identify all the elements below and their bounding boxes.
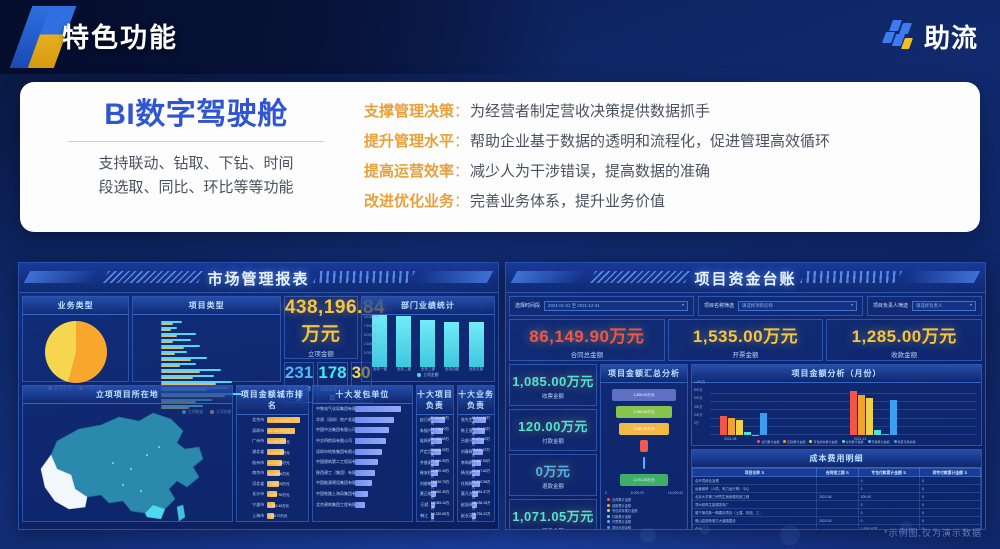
kpi-contract-total: 86,149.90万元 合同总金额 <box>509 319 665 361</box>
rank-value: 12,085.10万元 <box>431 500 450 510</box>
bar <box>890 400 897 435</box>
kpi-value: 1,535.00万元 <box>669 322 823 347</box>
table-cell: 0 <box>919 477 980 485</box>
rank-row: 中国能源建设集团有限公司广东院 <box>313 478 412 489</box>
rank-value: 52,014.80万元 <box>430 415 450 425</box>
rank-name: 中铁电气化局集团有限公司 <box>316 406 355 412</box>
table-cell: 0 <box>858 477 919 485</box>
chart-amount-summary[interactable]: 项目金额汇总分析 1,500.00万元1,285.00万元1,085.00万元1… <box>600 364 688 530</box>
rank-row: 上海市9,445.70万元 <box>237 510 308 521</box>
rank-name: 中国建筑第二工程局有限公司 <box>316 459 355 465</box>
rank-row: 广州市33,006.27万元 <box>237 436 308 447</box>
table-cell <box>817 477 859 485</box>
kpi-payment: 120.00万元 付款金额 <box>509 409 597 451</box>
rank-row: 杭州市24,310.55万元 <box>237 457 308 468</box>
kpi-value: 1,285.00万元 <box>827 322 981 347</box>
rank-row: 中国建筑第二工程局有限公司 <box>313 457 412 468</box>
bar <box>874 430 881 435</box>
table-row[interactable]: 佛山高铁新城方大道路建设2022-0300 <box>693 517 981 525</box>
card-subtitle-line2: 段选取、同比、环比等等功能 <box>46 176 346 200</box>
brand-logo: 助流 <box>880 18 978 55</box>
legend-item: 专包成本累计金额 <box>809 440 837 444</box>
panel-header: 市场管理报表 <box>19 263 498 293</box>
bar <box>866 398 873 435</box>
rank-row: 长沙市14,067.90万元 <box>237 489 308 500</box>
rank-name: 宁波市 <box>240 502 267 508</box>
rank-row: 崔安松22,890.40万元 <box>417 468 453 479</box>
rank-row: 南京市20,118.86万元 <box>237 468 308 479</box>
rank-value: 32,567.90万元 <box>472 458 491 468</box>
hbar-row <box>137 336 276 341</box>
rank-row: 赵旭泽18,036.15万元 <box>458 500 494 511</box>
dashboard-fund-ledger: 项目资金台账 选择时间段 2021-01-01 至 2021-12-31 项目名… <box>505 262 986 530</box>
rank-row: 赵长茂13,794.22万元 <box>458 510 494 521</box>
rank-row: 陈玉强45,284.70万元 <box>458 426 494 437</box>
table-row[interactable]: 普宁莲花新一期建设项目（土建、机电、工...00 <box>693 509 981 517</box>
rank-value: 45,284.70万元 <box>472 426 491 436</box>
hbar-row <box>137 324 276 329</box>
rank-row: 中铁电气化局集团有限公司 <box>313 404 412 415</box>
bar <box>420 320 435 367</box>
kpi-refund: 0万元 退款金额 <box>509 454 597 496</box>
grouped-bar-chart <box>692 383 981 441</box>
rank-value: 36,611.07万元 <box>472 447 491 457</box>
rank-value: 66,118.30万元 <box>268 428 290 433</box>
feature-row: 改进优化业务 ： 完善业务体系，提升业务价值 <box>364 190 964 211</box>
x-tick: 0 <box>605 491 607 495</box>
rank-name: 齐俊彩 <box>420 460 432 466</box>
rank-row: 中交四航局有限公司 <box>313 436 412 447</box>
rank-row: 刘春辉36,611.07万元 <box>458 447 494 458</box>
bar <box>760 413 767 435</box>
y-tick: 0.00亿元 <box>364 349 379 358</box>
chart-dept-performance[interactable]: 部门业绩统计 10.00亿元7.50亿元5.00亿元2.50亿元0.00亿元 业… <box>361 296 495 382</box>
x-tick: 16,000.00 <box>668 491 683 495</box>
chart-project-type[interactable]: 项目类型 立项数量 立项金额 <box>132 296 281 382</box>
panel-title: 市场管理报表 <box>19 268 498 289</box>
date-range-input[interactable]: 2021-01-01 至 2021-12-31 <box>544 301 688 311</box>
hbar-row <box>137 354 276 359</box>
chart-title: 项目类型 <box>133 297 280 315</box>
table-cell: 0 <box>919 517 980 525</box>
feature-row: 支撑管理决策 ： 为经营者制定营收决策提供数据抓手 <box>364 100 964 121</box>
table-cell: 0 <box>919 501 980 509</box>
rank-name: 韩江 <box>420 513 431 519</box>
kpi-value: 231 <box>285 363 313 383</box>
feature-colon: ： <box>454 190 469 211</box>
rank-name: 河北省 <box>240 481 267 487</box>
rank-value: 11,032.45万元 <box>267 503 289 508</box>
x-tick: 8,000.00 <box>631 491 644 495</box>
y-tick: 10.00亿元 <box>364 313 379 322</box>
feature-colon: ： <box>454 130 469 151</box>
rank-value: 19,330.70万元 <box>431 479 450 489</box>
table-cell: 0 <box>919 509 980 517</box>
rank-name: 任佩辉 <box>461 481 472 487</box>
kpi-label: 退款金额 <box>510 482 596 490</box>
rank-value: 44,718.20万元 <box>430 426 449 436</box>
table-cell: 200.00 <box>858 493 919 501</box>
rank-name: 中国中冶集团有限公司 <box>316 427 355 433</box>
rank-row: 河北省17,802.33万元 <box>237 479 308 490</box>
chart-y-axis: 10.00亿元7.50亿元5.00亿元2.50亿元0.00亿元 <box>364 313 379 358</box>
kpi-label: 收票金额 <box>510 392 596 400</box>
rank-row: 张先生48,314.50万元 <box>458 415 494 426</box>
chart-title: 业务类型 <box>23 297 128 315</box>
feature-row: 提升管理水平 ： 帮助企业基于数据的透明和流程化，促进管理高效循环 <box>364 130 964 151</box>
kpi-balance: 1,071.05万元 项目余额 <box>509 499 597 530</box>
kpi-value: 0万元 <box>510 461 596 480</box>
rank-bar <box>355 502 365 508</box>
table-cell: 2022-03 <box>817 517 859 525</box>
rank-value: 21,284.37万元 <box>472 489 491 499</box>
rank-row: 宁波市11,032.45万元 <box>237 500 308 511</box>
rank-business-owners[interactable]: 十大业务负责 张先生48,314.50万元陈玉强45,284.70万元吕俊凡40… <box>457 385 495 522</box>
rank-value: 15,660.30万元 <box>431 489 450 499</box>
rank-row: 北京市87,349.51万元 <box>237 415 308 426</box>
rank-row: 韩江10,220.60万元 <box>417 510 453 521</box>
rank-value: 33,006.27万元 <box>268 439 290 444</box>
rank-row: 中国中冶集团有限公司 <box>313 425 412 436</box>
rank-value: 26,710.98万元 <box>472 479 491 489</box>
legend-item: 开票累计金额 <box>868 440 890 444</box>
chart-title: 项目金额分析（月份） <box>692 365 981 383</box>
table-cell <box>817 509 859 517</box>
feature-list: 支撑管理决策 ： 为经营者制定营收决策提供数据抓手 提升管理水平 ： 帮助企业基… <box>360 82 980 232</box>
filter-project-name[interactable]: 项目名称筛选 请选择项目名称 <box>698 296 863 316</box>
china-map <box>23 404 232 530</box>
panel-header: 项目资金台账 <box>506 263 985 293</box>
card-subtitle-line1: 支持联动、钻取、下钻、时间 <box>46 152 346 176</box>
rank-bar <box>355 459 378 465</box>
rank-name: 杭州市 <box>240 460 267 466</box>
feature-value: 为经营者制定营收决策提供数据抓手 <box>470 100 710 121</box>
chart-legend: 合同累计金额回款累计金额专包成本累计金额付款累计金额开票累计金额项目可用余额 <box>692 440 981 444</box>
rank-value: 87,349.51万元 <box>268 418 290 423</box>
rank-row: 朱振兴44,718.20万元 <box>417 426 453 437</box>
rank-value: 24,310.55万元 <box>268 460 290 465</box>
rank-value: 33,610.20万元 <box>431 447 450 457</box>
table-cost-detail[interactable]: 成本费用明细 项目名称 ⇅合同竣工期 ⇅专包付款累计金额 ⇅同专付款累计金额 ⇅… <box>691 449 982 530</box>
y-tick: 5.00亿元 <box>364 331 379 340</box>
feature-colon: ： <box>454 160 469 181</box>
rank-name: 中交四航局有限公司 <box>316 438 355 444</box>
feature-value: 完善业务体系，提升业务价值 <box>470 190 665 211</box>
map-project-location[interactable]: 立项项目所在地 <box>22 385 233 522</box>
table-cell: 2022-06 <box>817 493 859 501</box>
bar <box>736 420 743 435</box>
bar <box>469 322 484 367</box>
rank-value: 40,471.63万元 <box>472 436 491 446</box>
feature-key: 支撑管理决策 <box>364 100 454 121</box>
chart-title: 十大项目负责 <box>417 386 453 415</box>
rank-name: 华润（深圳）地产发展有限公司 <box>316 417 355 423</box>
hbar-row <box>137 378 276 383</box>
table-column-header[interactable]: 合同竣工期 ⇅ <box>817 469 859 477</box>
x-tick: 业务四部 <box>445 367 459 372</box>
chart-title: 立项项目所在地 <box>23 386 232 404</box>
bar <box>720 416 727 435</box>
table-header-row: 项目名称 ⇅合同竣工期 ⇅专包付款累计金额 ⇅同专付款累计金额 ⇅ <box>693 469 981 477</box>
page-header: 特色功能 助流 <box>0 0 1000 74</box>
rank-name: 刘俊敏 <box>420 481 431 487</box>
funnel-bar <box>643 457 645 469</box>
pie-chart <box>45 321 107 383</box>
rank-row: 汪斌12,085.10万元 <box>417 500 453 511</box>
rank-name: 深圳市 <box>240 428 267 434</box>
rank-list: 北京市87,349.51万元深圳市66,118.30万元广州市33,006.27… <box>237 415 308 521</box>
filter-date-range[interactable]: 选择时间段 2021-01-01 至 2021-12-31 <box>509 296 694 316</box>
chart-monthly-amount[interactable]: 项目金额分析（月份） 1,000万800万600万400万200万0万 2021… <box>691 364 982 446</box>
rank-name: 黄正能 <box>420 491 431 497</box>
legend-item: 回款累计金额 <box>783 440 805 444</box>
vbar-chart <box>362 315 494 367</box>
rank-name: 汪斌 <box>420 502 431 508</box>
rank-value: 22,890.40万元 <box>431 468 450 478</box>
x-tick: 业务三部 <box>421 367 435 372</box>
bar <box>850 391 857 435</box>
rank-bar <box>355 449 382 455</box>
table-cell: 0 <box>858 501 919 509</box>
filter-label: 项目名称筛选 <box>704 301 734 311</box>
table-row[interactable]: 运营维修（人防、电力运行等）中心00 <box>693 485 981 493</box>
x-tick: 业务二部 <box>397 367 411 372</box>
table-title: 成本费用明细 <box>692 450 981 468</box>
table-cell: 0 <box>858 509 919 517</box>
hbar-row <box>137 372 276 377</box>
rank-row: 深圳市地铁集团有限公司 <box>313 446 412 457</box>
x-tick: 业务五部 <box>469 367 483 372</box>
rank-name: 莫凡东 <box>461 491 472 497</box>
rank-row: 赵日新52,014.80万元 <box>417 415 453 426</box>
rank-value: 20,118.86万元 <box>268 471 290 476</box>
table-column-header[interactable]: 同专付款累计金额 ⇅ <box>919 469 980 477</box>
table-cell <box>817 525 859 531</box>
rank-row: 李和朝32,567.90万元 <box>458 457 494 468</box>
legend-item: 立项金额 <box>417 373 438 378</box>
kpi-value: 86,149.90万元 <box>510 322 664 347</box>
rank-value: 48,314.50万元 <box>472 415 492 425</box>
funnel-bar: 1,285.00万元 <box>616 406 672 418</box>
feature-key: 改进优化业务 <box>364 190 454 211</box>
filter-label: 项目负责人筛选 <box>873 301 908 311</box>
slide-stage: 特色功能 助流 BI数字驾驶舱 支持联动、钻取、下钻、时间 段选取、同比、环比等… <box>0 0 1000 549</box>
y-tick: 7.50亿元 <box>364 322 379 331</box>
rank-row: 华润（深圳）地产发展有限公司 <box>313 415 412 426</box>
kpi-value: 120.00万元 <box>510 416 596 435</box>
table-row[interactable]: 北京大学第三研究生宿舍楼改造工程2022-06200.000 <box>693 493 981 501</box>
funnel-bar: 1,500.00万元 <box>612 389 676 401</box>
rank-row: 侯佩明39,102.50万元 <box>417 436 453 447</box>
rank-value: 10,220.60万元 <box>431 511 450 521</box>
rank-list: 中铁电气化局集团有限公司华润（深圳）地产发展有限公司中国中冶集团有限公司中交四航… <box>313 404 412 510</box>
rank-row: 湖北省29,551.40万元 <box>237 447 308 458</box>
rank-value: 9,445.70万元 <box>267 513 287 518</box>
rank-city-amount[interactable]: 项目金额城市排名 北京市87,349.51万元深圳市66,118.30万元广州市… <box>236 385 309 522</box>
funnel-bar <box>640 440 647 452</box>
y-tick: 2.50亿元 <box>364 340 379 349</box>
rank-value: 17,802.33万元 <box>268 481 290 486</box>
rank-row: 吕俊凡40,471.63万元 <box>458 436 494 447</box>
feature-value: 帮助企业基于数据的透明和流程化，促进管理高效循环 <box>470 130 830 151</box>
dashboard-market-report: 市场管理报表 业务类型 自营业务 代理业务 项目类型 立项数量 立项金额 <box>18 262 499 530</box>
rank-bar <box>355 438 386 444</box>
table-cell: 0 <box>858 485 919 493</box>
funnel-chart: 1,500.00万元1,285.00万元1,085.00万元1,071.05万元 <box>601 383 687 486</box>
kpi-received-invoice: 1,085.00万元 收票金额 <box>509 364 597 406</box>
rank-contract-units[interactable]: 十大发包单位 中铁电气化局集团有限公司华润（深圳）地产发展有限公司中国中冶集团有… <box>312 385 413 522</box>
hbar-row <box>137 360 276 365</box>
rank-value: 14,067.90万元 <box>267 492 289 497</box>
chart-title: 十大发包单位 <box>313 386 412 404</box>
table-column-header[interactable]: 专包付款累计金额 ⇅ <box>858 469 919 477</box>
kpi-value: 1,071.05万元 <box>510 506 596 525</box>
rank-name: 南京市 <box>240 470 267 476</box>
cost-detail-table: 项目名称 ⇅合同竣工期 ⇅专包付款累计金额 ⇅同专付款累计金额 ⇅ 合环境综合治… <box>692 468 981 530</box>
rank-row: 中国铁路上海局集团有限公司杭州南站工程建设部 <box>313 489 412 500</box>
rank-project-owners[interactable]: 十大项目负责 赵日新52,014.80万元朱振兴44,718.20万元侯佩明39… <box>416 385 454 522</box>
bar <box>882 434 889 435</box>
rank-value: 18,036.15万元 <box>472 500 491 510</box>
kpi-label: 合同总金额 <box>510 349 664 359</box>
rank-name: 赵长茂 <box>461 513 472 519</box>
rank-row: 齐俊彩27,446.90万元 <box>417 457 453 468</box>
legend-item: 项目可用余额 <box>894 440 916 444</box>
rank-row: 北京建筑集团工程有限责任公司 <box>313 499 412 510</box>
panel-title: 项目资金台账 <box>506 268 985 289</box>
rank-bar <box>355 427 389 433</box>
card-title: BI数字驾驶舱 <box>46 96 346 134</box>
table-cell <box>817 501 859 509</box>
rank-name: 北京市 <box>240 417 267 423</box>
table-cell: 佛山高铁新城方大道路建设 <box>693 517 817 525</box>
bar <box>396 316 411 367</box>
rank-value: 29,147.62万元 <box>472 468 491 478</box>
rank-bar <box>355 470 375 476</box>
rank-name: 深圳市地铁集团有限公司 <box>316 449 355 455</box>
bar <box>858 395 865 435</box>
rank-name: 陕西建工（集团）有限公司 <box>316 470 355 476</box>
filter-label: 选择时间段 <box>515 301 540 311</box>
rank-row: 陕西建工（集团）有限公司 <box>313 468 412 479</box>
feature-colon: ： <box>454 100 469 121</box>
chart-title: 十大业务负责 <box>458 386 494 415</box>
rank-name: 杨兆勇 <box>461 470 473 476</box>
kpi-value: 1,085.00万元 <box>510 371 596 390</box>
kpi-label: 开票金额 <box>669 349 823 359</box>
rank-name: 中国铁路上海局集团有限公司杭州南站工程建设部 <box>316 491 355 497</box>
rank-value: 27,446.90万元 <box>431 458 450 468</box>
rank-bar <box>355 491 368 497</box>
page-title: 特色功能 <box>62 16 178 55</box>
table-cell: 普宁莲花新一期建设项目（土建、机电、工... <box>693 509 817 517</box>
rank-row: 黄正能15,660.30万元 <box>417 489 453 500</box>
rank-value: 13,794.22万元 <box>472 511 491 521</box>
kpi-label: 立项金额 <box>285 348 357 358</box>
rank-row: 严定品33,610.20万元 <box>417 447 453 458</box>
hbar-row <box>137 318 276 323</box>
hbar-row <box>137 348 276 353</box>
rank-name: 中国能源建设集团有限公司广东院 <box>316 480 355 486</box>
rank-name: 北京建筑集团工程有限责任公司 <box>316 502 355 508</box>
rank-bar <box>355 480 372 486</box>
chart-business-type[interactable]: 业务类型 自营业务 代理业务 <box>22 296 129 382</box>
kpi-label: 项目余额 <box>510 527 596 531</box>
table-row[interactable]: 合环境综合治理00 <box>693 477 981 485</box>
x-tick: 业务一部 <box>373 367 387 372</box>
feature-key: 提高运营效率 <box>364 160 454 181</box>
chart-x-axis: 业务一部业务二部业务三部业务四部业务五部 <box>362 367 494 372</box>
rank-value: 39,102.50万元 <box>431 436 450 446</box>
table-cell: 0 <box>919 493 980 501</box>
chart-legend: 立项金额 <box>362 373 494 378</box>
feature-value: 减少人为干涉错误，提高数据的准确 <box>470 160 710 181</box>
project-name-select[interactable]: 请选择项目名称 <box>738 301 857 311</box>
rank-value: 29,551.40万元 <box>268 450 290 455</box>
rank-list: 张先生48,314.50万元陈玉强45,284.70万元吕俊凡40,471.63… <box>458 415 494 521</box>
feature-row: 提高运营效率 ： 减少人为干涉错误，提高数据的准确 <box>364 160 964 181</box>
hbar-row <box>137 366 276 371</box>
rank-row: 任佩辉26,710.98万元 <box>458 479 494 490</box>
legend-item: 付款累计金额 <box>842 440 864 444</box>
rank-name: 长沙市 <box>240 491 267 497</box>
kpi-value: 178 <box>318 363 346 383</box>
funnel-bar: 1,071.05万元 <box>620 474 668 486</box>
rank-bar <box>355 406 401 412</box>
card-left-column: BI数字驾驶舱 支持联动、钻取、下钻、时间 段选取、同比、环比等等功能 <box>20 82 360 232</box>
rank-row: 杨兆勇29,147.62万元 <box>458 468 494 479</box>
hbar-row <box>137 330 276 335</box>
bar <box>744 432 751 435</box>
rank-row: 莫凡东21,284.37万元 <box>458 489 494 500</box>
table-cell: 运营维修（人防、电力运行等）中心 <box>693 485 817 493</box>
brand-name: 助流 <box>924 18 978 55</box>
rank-bar <box>355 417 394 423</box>
project-owner-select[interactable]: 请选择负责人 <box>912 301 976 311</box>
table-cell <box>817 485 859 493</box>
bar <box>444 322 459 367</box>
kpi-value: 438,196.84万元 <box>285 297 357 346</box>
feature-card: BI数字驾驶舱 支持联动、钻取、下钻、时间 段选取、同比、环比等等功能 支撑管理… <box>20 82 980 232</box>
feature-key: 提升管理水平 <box>364 130 454 151</box>
kpi-label: 收款金额 <box>827 349 981 359</box>
table-row[interactable]: 漳州双再生能源发电厂00 <box>693 501 981 509</box>
table-column-header[interactable]: 项目名称 ⇅ <box>693 469 817 477</box>
chart-title: 项目金额汇总分析 <box>601 365 687 383</box>
hbar-row <box>137 342 276 347</box>
bar <box>728 418 735 435</box>
kpi-invoice-amount: 1,535.00万元 开票金额 <box>668 319 824 361</box>
rank-name: 崔安松 <box>420 470 431 476</box>
kpi-total-amount: 438,196.84万元 立项金额 <box>284 296 358 359</box>
card-divider <box>68 141 324 142</box>
rank-name: 赵旭泽 <box>461 502 472 508</box>
table-cell: 北京大学第三研究生宿舍楼改造工程 <box>693 493 817 501</box>
funnel-bar: 1,085.00万元 <box>619 423 669 435</box>
filter-project-owner[interactable]: 项目负责人筛选 请选择负责人 <box>867 296 982 316</box>
kpi-receipt-amount: 1,285.00万元 收款金额 <box>826 319 982 361</box>
chart-title: 部门业绩统计 <box>362 297 494 315</box>
kpi-label: 付款金额 <box>510 437 596 445</box>
chart-legend: 合同累计金额回款累计金额专包成本累计金额付款累计金额开票累计金额项目可用余额 <box>601 495 687 530</box>
table-body: 合环境综合治理00运营维修（人防、电力运行等）中心00北京大学第三研究生宿舍楼改… <box>693 477 981 531</box>
rank-list: 赵日新52,014.80万元朱振兴44,718.20万元侯佩明39,102.50… <box>417 415 453 521</box>
table-cell: 漳州双再生能源发电厂 <box>693 501 817 509</box>
chart-title: 项目金额城市排名 <box>237 386 308 415</box>
rank-name: 广州市 <box>240 438 267 444</box>
rank-row: 深圳市66,118.30万元 <box>237 426 308 437</box>
rank-name: 湖北省 <box>240 449 267 455</box>
